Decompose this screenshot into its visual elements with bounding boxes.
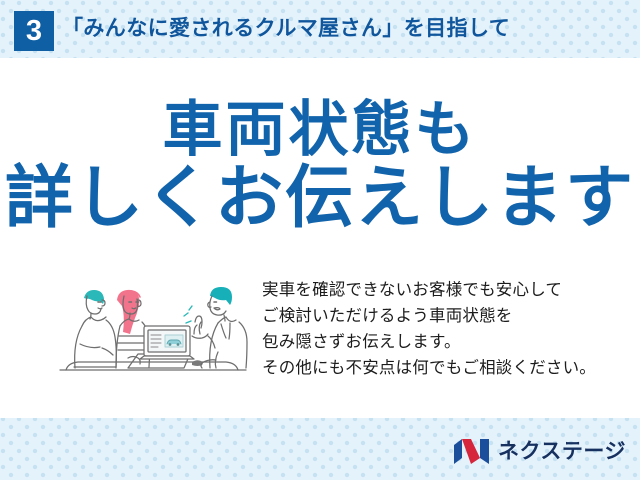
headline-line-1: 車両状態も — [0, 98, 640, 162]
brand-logo: ネクステージ — [453, 436, 626, 466]
lower-section: 実車を確認できないお客様でも安心して ご検討いただけるよう車両状態を 包み隠さず… — [0, 274, 640, 402]
desk — [60, 362, 246, 370]
car-thumbnail — [165, 335, 183, 347]
header-title: 「みんなに愛されるクルマ屋さん」を目指して — [62, 13, 510, 45]
body-line-1: 実車を確認できないお客様でも安心して — [262, 277, 618, 303]
step-number-badge: 3 — [14, 11, 54, 51]
headline: 車両状態も 詳しくお伝えします — [0, 98, 640, 234]
body-line-2: ご検討いただけるよう車両状態を — [262, 303, 618, 329]
brand-wordmark: ネクステージ — [498, 438, 626, 465]
promo-banner: 3 「みんなに愛されるクルマ屋さん」を目指して 車両状態も 詳しくお伝えします — [0, 0, 640, 480]
body-line-3: 包み隠さずお伝えします。 — [262, 329, 618, 355]
nextage-n-logo-icon — [453, 438, 491, 465]
consultation-illustration — [58, 274, 248, 386]
laptop — [140, 326, 194, 359]
headline-line-2: 詳しくお伝えします — [0, 162, 640, 234]
header-band: 3 「みんなに愛されるクルマ屋さん」を目指して — [0, 0, 640, 58]
content-card: 車両状態も 詳しくお伝えします — [0, 58, 640, 418]
speech-marks — [184, 306, 192, 323]
body-paragraph: 実車を確認できないお客様でも安心して ご検討いただけるよう車両状態を 包み隠さず… — [262, 277, 618, 381]
body-line-4: その他にも不安点は何でもご相談ください。 — [262, 355, 618, 381]
male-customer-figure — [74, 290, 116, 368]
sales-staff-figure — [192, 287, 247, 368]
